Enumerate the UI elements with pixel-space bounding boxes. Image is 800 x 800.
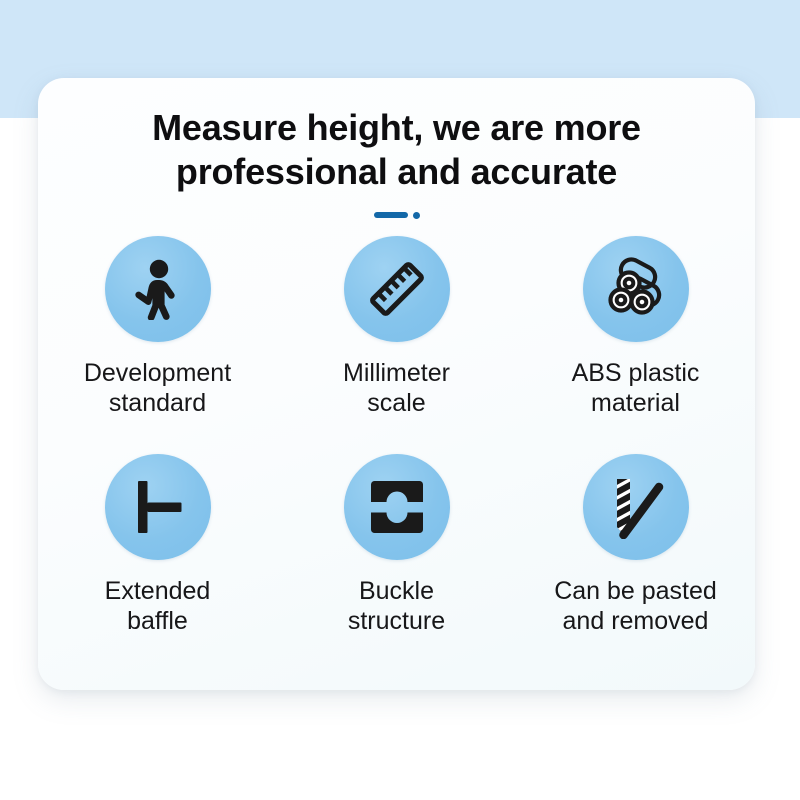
label-line-1: Millimeter: [343, 358, 450, 388]
label-line-1: ABS plastic: [572, 358, 700, 388]
label-line-1: Buckle: [348, 576, 445, 606]
title-divider: [38, 210, 755, 220]
walking-person-icon: [127, 258, 189, 320]
feature-item-development-standard[interactable]: Development standard: [38, 236, 277, 418]
feature-item-pasted-removed[interactable]: Can be pasted and removed: [516, 454, 755, 636]
feature-label: Buckle structure: [348, 576, 445, 636]
feature-item-buckle-structure[interactable]: Buckle structure: [277, 454, 516, 636]
icon-badge: [583, 454, 689, 560]
plastic-rolls-icon: [604, 257, 668, 321]
feature-item-millimeter-scale[interactable]: Millimeter scale: [277, 236, 516, 418]
icon-badge: [344, 236, 450, 342]
label-line-2: material: [572, 388, 700, 418]
divider-dot-icon: [413, 212, 420, 219]
feature-item-abs-plastic-material[interactable]: ABS plastic material: [516, 236, 755, 418]
t-bar-baffle-icon: [126, 475, 190, 539]
feature-label: Extended baffle: [105, 576, 211, 636]
icon-badge: [583, 236, 689, 342]
label-line-2: standard: [84, 388, 231, 418]
feature-card: Measure height, we are more professional…: [38, 78, 755, 690]
feature-item-extended-baffle[interactable]: Extended baffle: [38, 454, 277, 636]
feature-label: ABS plastic material: [572, 358, 700, 418]
buckle-structure-icon: [365, 478, 429, 536]
label-line-1: Can be pasted: [554, 576, 717, 606]
label-line-1: Extended: [105, 576, 211, 606]
feature-grid: Development standard M: [38, 236, 755, 636]
page-title: Measure height, we are more professional…: [38, 106, 755, 194]
label-line-2: baffle: [105, 606, 211, 636]
label-line-2: and removed: [554, 606, 717, 636]
feature-label: Can be pasted and removed: [554, 576, 717, 636]
title-line-1: Measure height, we are more: [38, 106, 755, 150]
ruler-icon: [365, 257, 429, 321]
icon-badge: [105, 236, 211, 342]
icon-badge: [105, 454, 211, 560]
feature-label: Development standard: [84, 358, 231, 418]
feature-label: Millimeter scale: [343, 358, 450, 418]
label-line-2: scale: [343, 388, 450, 418]
title-line-2: professional and accurate: [38, 150, 755, 194]
label-line-2: structure: [348, 606, 445, 636]
icon-badge: [344, 454, 450, 560]
checkmark-adhesive-icon: [605, 475, 667, 539]
divider-bar-icon: [374, 212, 408, 218]
label-line-1: Development: [84, 358, 231, 388]
